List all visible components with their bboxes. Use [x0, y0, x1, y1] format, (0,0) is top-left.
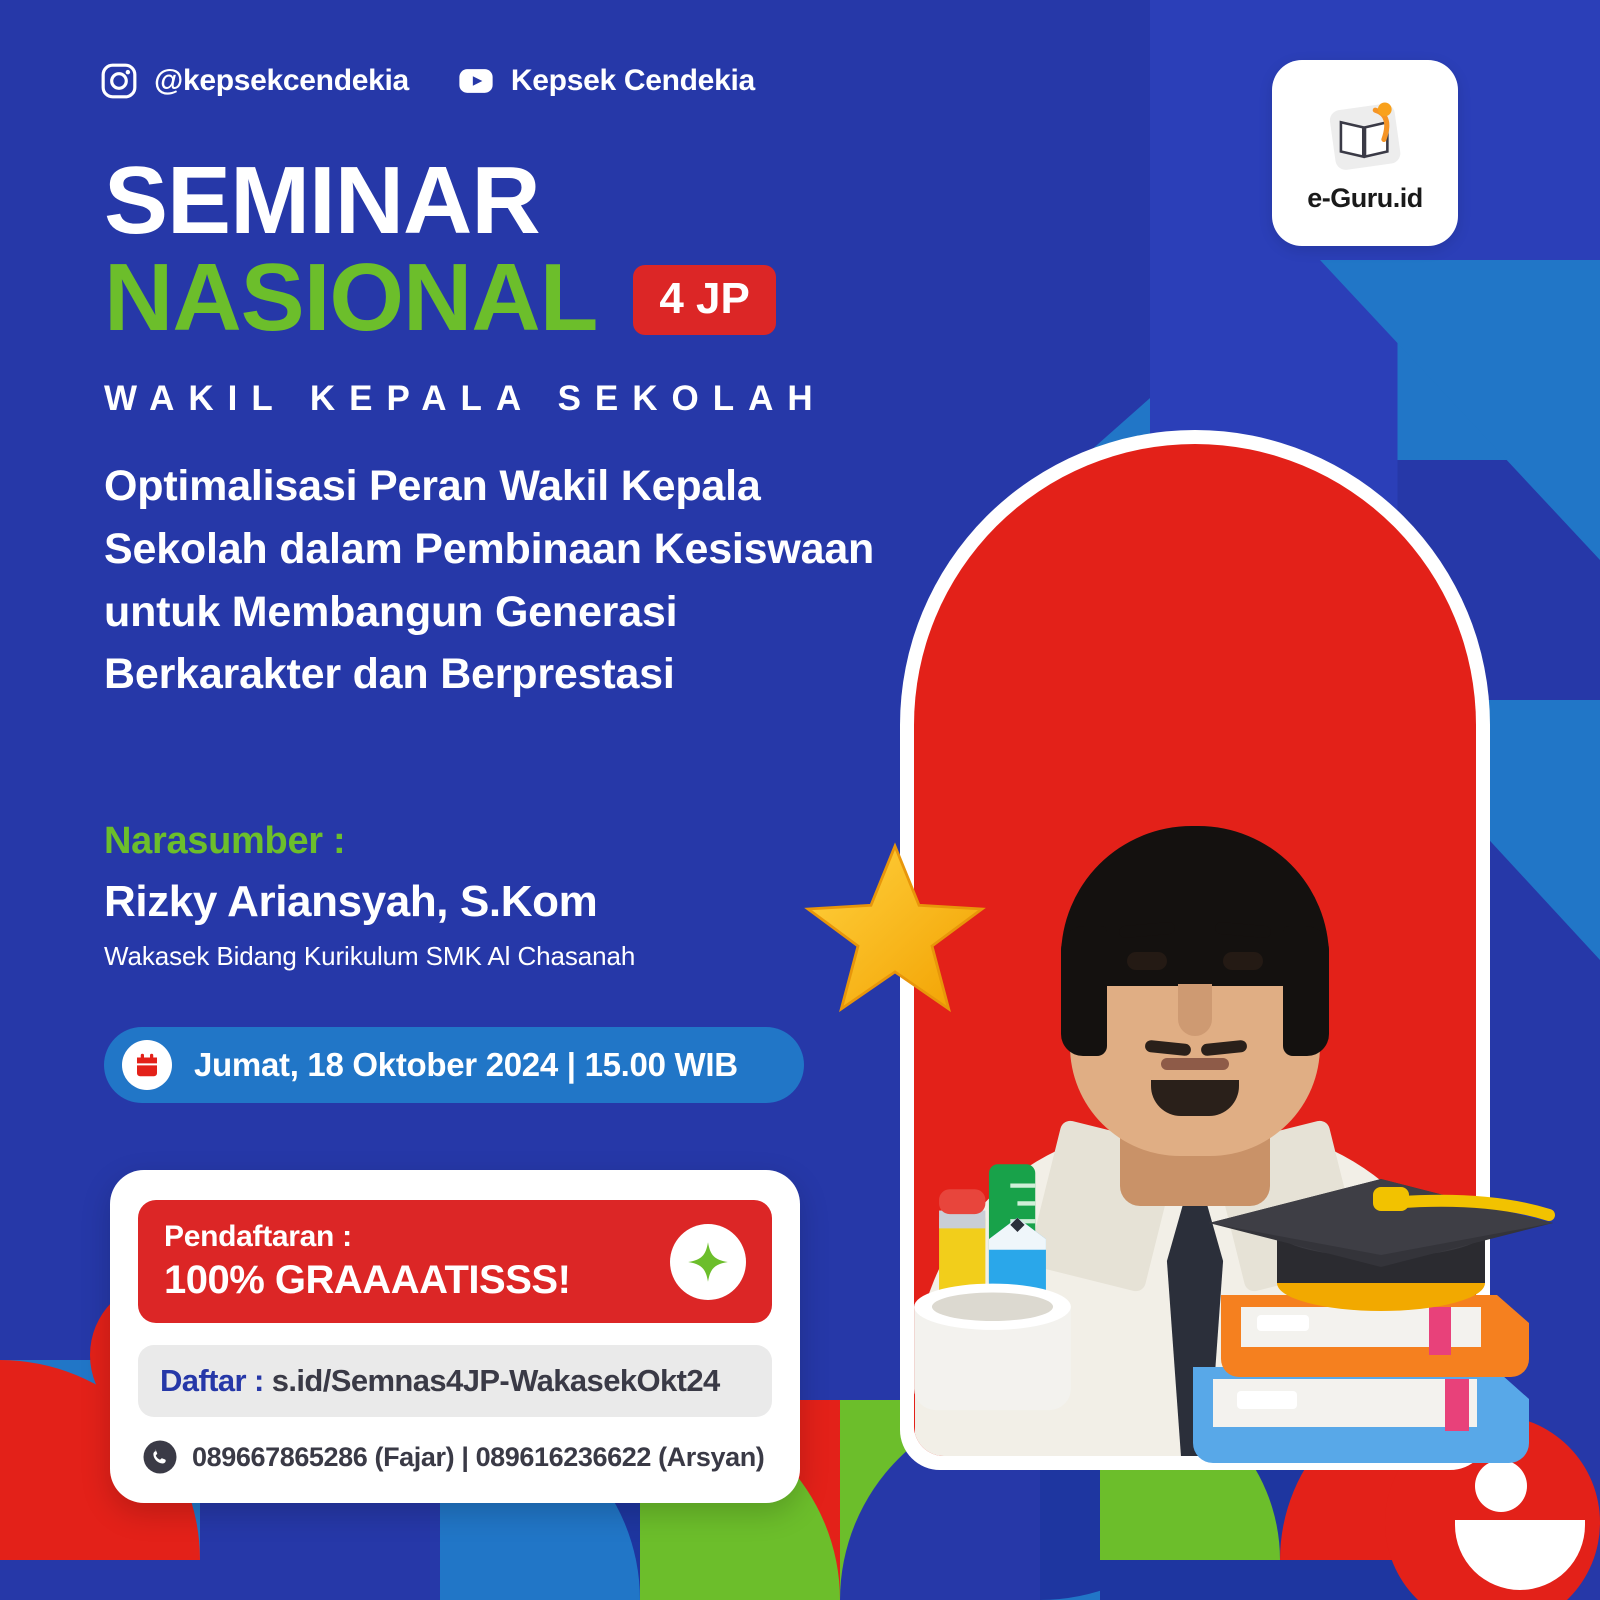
- calendar-icon: [122, 1040, 172, 1090]
- brand-logo-text: e-Guru.id: [1307, 183, 1423, 214]
- youtube-handle-group[interactable]: Kepsek Cendekia: [457, 62, 755, 100]
- schedule-text: Jumat, 18 Oktober 2024 | 15.00 WIB: [194, 1046, 738, 1084]
- instagram-icon: [100, 62, 138, 100]
- registration-label: Pendaftaran :: [164, 1220, 570, 1254]
- contact-numbers: 089667865286 (Fajar) | 089616236622 (Ars…: [192, 1442, 764, 1473]
- registration-price: 100% GRAAAATISSS!: [164, 1258, 570, 1303]
- contact-row: 089667865286 (Fajar) | 089616236622 (Ars…: [138, 1439, 772, 1475]
- sparkle-icon: [686, 1240, 730, 1284]
- brand-logo-card: e-Guru.id: [1272, 60, 1458, 246]
- speaker-label: Narasumber :: [104, 820, 635, 863]
- jp-badge: 4 JP: [633, 265, 776, 335]
- sparkle-badge: [670, 1224, 746, 1300]
- registration-card: Pendaftaran : 100% GRAAAATISSS! Daftar :…: [110, 1170, 800, 1503]
- instagram-handle: @kepsekcendekia: [154, 64, 409, 98]
- headline-kicker: WAKIL KEPALA SEKOLAH: [104, 379, 827, 419]
- daftar-link[interactable]: s.id/Semnas4JP-WakasekOkt24: [272, 1363, 720, 1398]
- star-3d-icon: [800, 835, 990, 1020]
- speaker-name: Rizky Ariansyah, S.Kom: [104, 877, 635, 927]
- youtube-handle: Kepsek Cendekia: [511, 64, 755, 98]
- registration-price-banner: Pendaftaran : 100% GRAAAATISSS!: [138, 1200, 772, 1323]
- headline-block: SEMINAR NASIONAL 4 JP WAKIL KEPALA SEKOL…: [104, 155, 827, 419]
- portrait-hair-right: [1283, 926, 1329, 1056]
- portrait-mouth: [1161, 1058, 1229, 1070]
- speaker-block: Narasumber : Rizky Ariansyah, S.Kom Waka…: [104, 820, 635, 972]
- instagram-handle-group[interactable]: @kepsekcendekia: [100, 62, 409, 100]
- portrait-nose: [1178, 984, 1212, 1036]
- portrait-eye-right: [1223, 952, 1263, 970]
- youtube-icon: [457, 62, 495, 100]
- daftar-label: Daftar :: [160, 1363, 264, 1398]
- portrait-beard: [1151, 1080, 1239, 1116]
- social-bar: @kepsekcendekia Kepsek Cendekia: [100, 62, 755, 100]
- portrait-eye-left: [1127, 952, 1167, 970]
- speaker-role: Wakasek Bidang Kurikulum SMK Al Chasanah: [104, 941, 635, 972]
- pencil-cup-3d-icon: [885, 1150, 1100, 1435]
- whatsapp-icon: [142, 1439, 178, 1475]
- graduation-books-3d-icon: [1165, 1155, 1565, 1485]
- open-book-icon: [1322, 93, 1408, 179]
- headline-seminar: SEMINAR: [104, 155, 827, 246]
- seminar-topic: Optimalisasi Peran Wakil Kepala Sekolah …: [104, 455, 924, 706]
- schedule-pill: Jumat, 18 Oktober 2024 | 15.00 WIB: [104, 1027, 804, 1103]
- seminar-poster: @kepsekcendekia Kepsek Cendekia e-Guru.i…: [0, 0, 1600, 1600]
- registration-link-box[interactable]: Daftar : s.id/Semnas4JP-WakasekOkt24: [138, 1345, 772, 1417]
- headline-nasional: NASIONAL: [104, 252, 597, 343]
- portrait-hair-left: [1061, 926, 1107, 1056]
